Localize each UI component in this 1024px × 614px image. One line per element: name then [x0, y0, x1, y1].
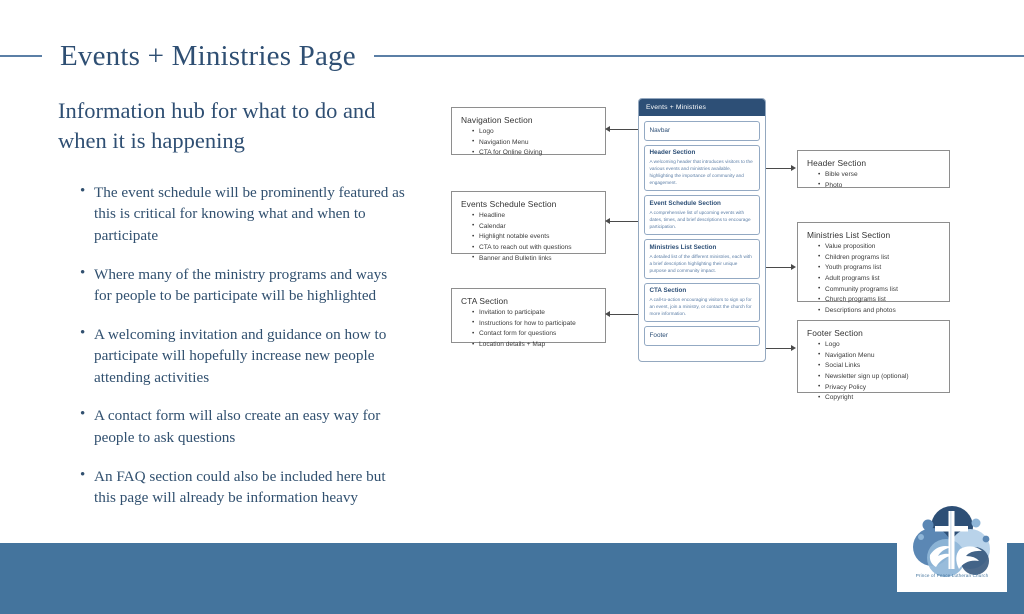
card-description: A comprehensive list of upcoming events …: [650, 209, 755, 230]
list-item: Descriptions and photos: [818, 306, 940, 317]
list-item: Contact form for questions: [472, 329, 596, 340]
slide-header: Events + Ministries Page: [0, 38, 1024, 74]
box-title: Events Schedule Section: [461, 199, 596, 209]
header-rule-right: [374, 55, 1024, 57]
list-item: Adult programs list: [818, 274, 940, 285]
list-item: The event schedule will be prominently f…: [80, 182, 408, 247]
list-item: Social Links: [818, 361, 940, 372]
card-description: A detailed list of the different ministr…: [650, 253, 755, 274]
ministries-list-section-box: Ministries List Section Value propositio…: [797, 222, 950, 302]
card-description: A call-to-action encouraging visitors to…: [650, 296, 755, 317]
box-list: Bible verse Photo: [807, 170, 940, 191]
list-item: Community programs list: [818, 285, 940, 296]
list-item: Calendar: [472, 222, 596, 233]
box-title: CTA Section: [461, 296, 596, 306]
list-item: Privacy Policy: [818, 383, 940, 394]
list-item: CTA to reach out with questions: [472, 243, 596, 254]
list-item: An FAQ section could also be included he…: [80, 466, 408, 509]
connector-line-cta: [610, 314, 638, 315]
events-schedule-section-box: Events Schedule Section Headline Calenda…: [451, 191, 606, 254]
arrow-left-icon: [605, 126, 610, 132]
list-item: Navigation Menu: [472, 138, 596, 149]
wireframe-ministries-list-section[interactable]: Ministries List Section A detailed list …: [644, 239, 760, 279]
wireframe-footer[interactable]: Footer: [644, 326, 760, 346]
list-item: Where many of the ministry programs and …: [80, 264, 408, 307]
list-item: CTA for Online Giving: [472, 148, 596, 159]
list-item: Bible verse: [818, 170, 940, 181]
card-title: CTA Section: [650, 287, 755, 295]
wireframe-title-bar: Events + Ministries: [639, 99, 765, 116]
list-item: Highlight notable events: [472, 232, 596, 243]
box-list: Value proposition Children programs list…: [807, 242, 940, 317]
card-title: Event Schedule Section: [650, 200, 755, 208]
list-item: Photo: [818, 181, 940, 192]
connector-line-header: [766, 168, 792, 169]
list-item: Value proposition: [818, 242, 940, 253]
page-subtitle: Information hub for what to do and when …: [58, 96, 408, 156]
logo-caption: Prince of Peace Lutheran Church: [897, 573, 1007, 578]
connector-line-events: [610, 221, 638, 222]
wireframe-mockup: Events + Ministries Navbar Header Sectio…: [638, 98, 766, 362]
card-description: A welcoming header that introduces visit…: [650, 158, 755, 186]
navigation-section-box: Navigation Section Logo Navigation Menu …: [451, 107, 606, 155]
wireframe-cta-section[interactable]: CTA Section A call-to-action encouraging…: [644, 283, 760, 323]
list-item: Newsletter sign up (optional): [818, 372, 940, 383]
list-item: Banner and Bulletin links: [472, 254, 596, 265]
header-section-box: Header Section Bible verse Photo: [797, 150, 950, 188]
wireframe-event-schedule-section[interactable]: Event Schedule Section A comprehensive l…: [644, 195, 760, 235]
list-item: A contact form will also create an easy …: [80, 405, 408, 448]
list-item: Logo: [818, 340, 940, 351]
arrow-right-icon: [791, 165, 796, 171]
wireframe-navbar[interactable]: Navbar: [644, 121, 760, 141]
connector-line-ministries: [766, 267, 792, 268]
list-item: Copyright: [818, 393, 940, 404]
box-list: Invitation to participate Instructions f…: [461, 308, 596, 351]
list-item: Logo: [472, 127, 596, 138]
list-item: Children programs list: [818, 253, 940, 264]
cta-section-box: CTA Section Invitation to participate In…: [451, 288, 606, 343]
arrow-left-icon: [605, 311, 610, 317]
box-list: Headline Calendar Highlight notable even…: [461, 211, 596, 264]
arrow-right-icon: [791, 264, 796, 270]
header-rule-left: [0, 55, 42, 57]
list-item: A welcoming invitation and guidance on h…: [80, 324, 408, 389]
page-title: Events + Ministries Page: [42, 40, 374, 73]
card-title: Ministries List Section: [650, 244, 755, 252]
connector-line-navbar: [610, 129, 638, 130]
wireframe-header-section[interactable]: Header Section A welcoming header that i…: [644, 145, 760, 192]
list-item: Navigation Menu: [818, 351, 940, 362]
arrow-left-icon: [605, 218, 610, 224]
box-title: Header Section: [807, 158, 940, 168]
list-item: Instructions for how to participate: [472, 319, 596, 330]
list-item: Church programs list: [818, 295, 940, 306]
connector-line-footer: [766, 348, 792, 349]
box-list: Logo Navigation Menu Social Links Newsle…: [807, 340, 940, 404]
wireframe-footer-label: Footer: [650, 332, 755, 340]
wireframe-navbar-label: Navbar: [650, 127, 755, 135]
arrow-right-icon: [791, 345, 796, 351]
box-title: Footer Section: [807, 328, 940, 338]
box-list: Logo Navigation Menu CTA for Online Givi…: [461, 127, 596, 159]
church-logo-icon: [902, 503, 1002, 581]
left-content-column: Information hub for what to do and when …: [58, 96, 408, 526]
box-title: Navigation Section: [461, 115, 596, 125]
wireframe-body: Navbar Header Section A welcoming header…: [639, 116, 765, 352]
list-item: Invitation to participate: [472, 308, 596, 319]
list-item: Headline: [472, 211, 596, 222]
list-item: Location details + Map: [472, 340, 596, 351]
bottom-band: [0, 543, 1024, 614]
card-title: Header Section: [650, 149, 755, 157]
list-item: Youth programs list: [818, 263, 940, 274]
footer-section-box: Footer Section Logo Navigation Menu Soci…: [797, 320, 950, 393]
key-points-list: The event schedule will be prominently f…: [58, 182, 408, 509]
box-title: Ministries List Section: [807, 230, 940, 240]
